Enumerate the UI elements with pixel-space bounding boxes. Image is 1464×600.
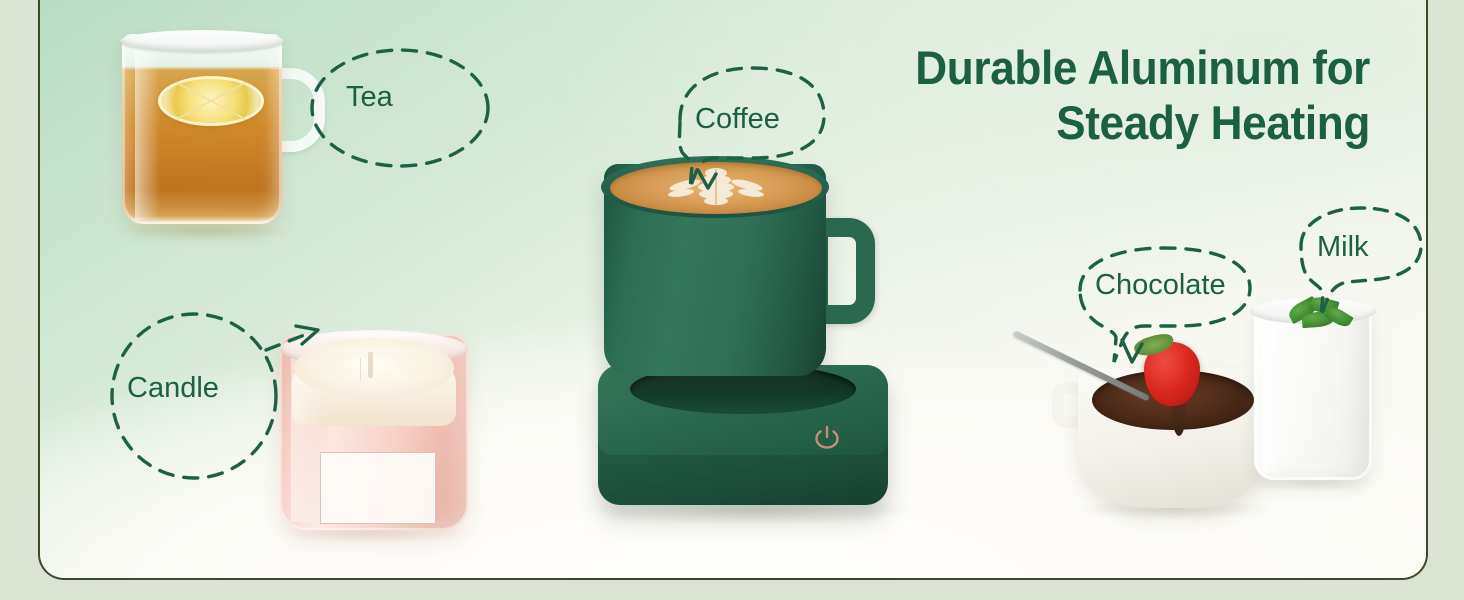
power-icon[interactable] — [810, 422, 844, 456]
callout-milk-shape — [1285, 200, 1428, 330]
product-tea-mug — [112, 28, 332, 243]
candle-wick — [368, 352, 373, 378]
tea-body — [122, 34, 282, 224]
callout-coffee-shape — [656, 62, 846, 202]
lemon-slice — [158, 76, 264, 126]
callout-chocolate-shape — [1064, 242, 1274, 372]
banner-stage: Durable Aluminum for Steady Heating — [0, 0, 1464, 600]
feature-card: Durable Aluminum for Steady Heating — [38, 0, 1428, 580]
callout-candle-shape — [96, 302, 336, 492]
candle-label — [320, 452, 436, 524]
product-mug-warmer — [588, 150, 978, 550]
callout-tea-shape — [302, 38, 502, 178]
tea-rim — [120, 30, 284, 52]
page-title: Durable Aluminum for Steady Heating — [844, 40, 1370, 151]
